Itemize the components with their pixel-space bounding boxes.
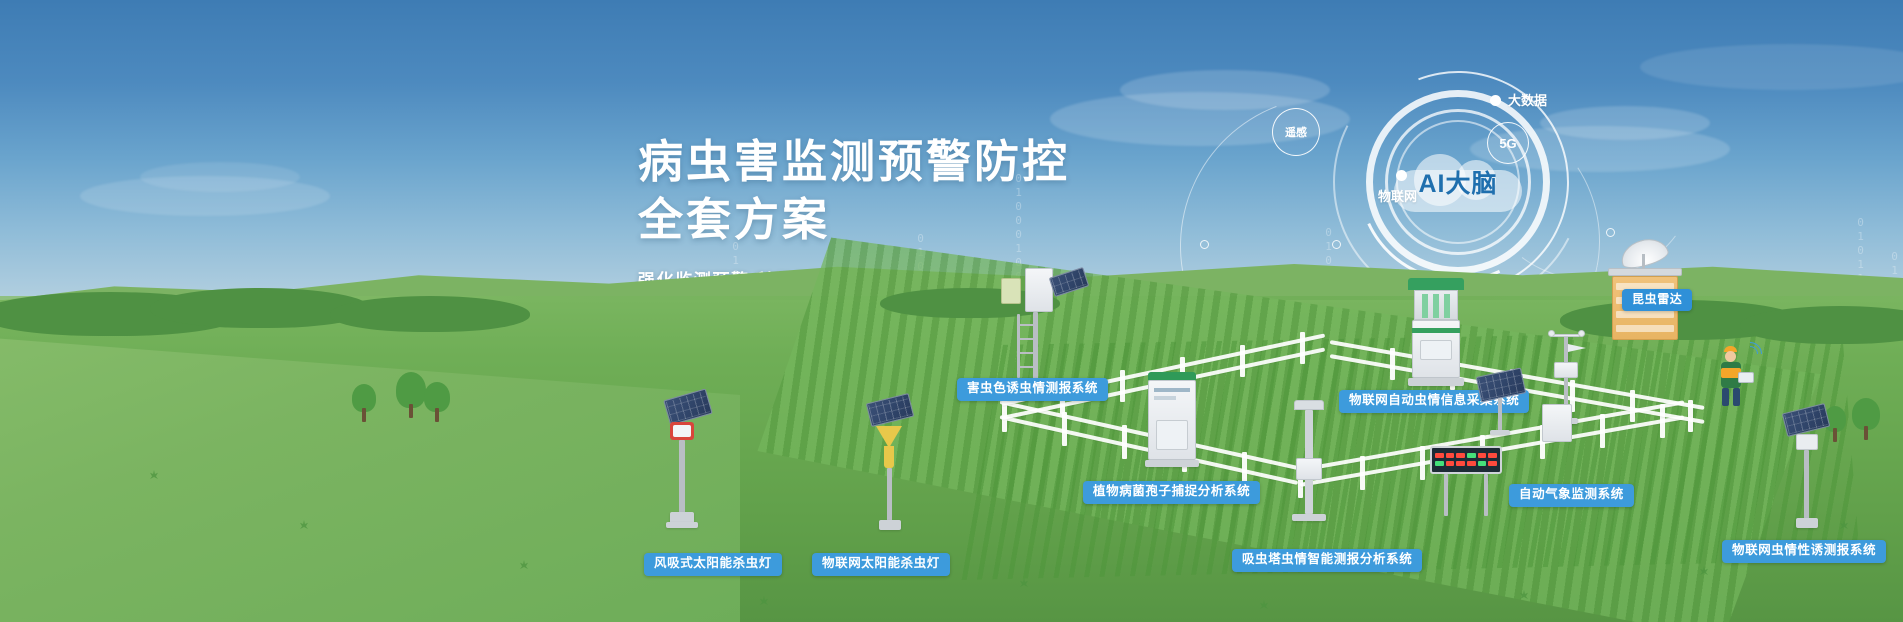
cloud-shape: [140, 162, 300, 192]
label-insect-radar[interactable]: 昆虫雷达: [1622, 289, 1692, 311]
label-suction-tower[interactable]: 吸虫塔虫情智能测报分析系统: [1232, 549, 1422, 572]
arc-endpoint-dot: [1200, 240, 1209, 249]
hub-node-label-iot: 物联网: [1378, 186, 1417, 205]
hill-bush: [1740, 306, 1903, 344]
label-auto-weather-station[interactable]: 自动气象监测系统: [1509, 484, 1634, 507]
device-weather-cabinet[interactable]: [1542, 404, 1572, 442]
arc-endpoint-dot: [1332, 240, 1341, 249]
hub-node-label-big-data: 大数据: [1508, 90, 1547, 109]
pest-monitoring-banner: 0100010011010 01001 0100101101 010110100…: [0, 0, 1903, 622]
tree: [1852, 392, 1880, 440]
hub-node-label: 遥感: [1285, 124, 1307, 140]
tree: [424, 378, 450, 422]
hill-bush: [330, 296, 530, 332]
tree: [396, 368, 426, 418]
label-wind-solar-lamp[interactable]: 风吸式太阳能杀虫灯: [644, 553, 782, 576]
hub-node-label: 5G: [1499, 136, 1516, 151]
hub-node-5g[interactable]: 5G: [1487, 122, 1529, 164]
label-insect-color-trap[interactable]: 害虫色诱虫情测报系统: [957, 378, 1108, 401]
hub-node-remote-sensing[interactable]: 遥感: [1272, 108, 1320, 156]
banner-title-line-2: 全套方案: [638, 191, 1158, 249]
hub-node-dot-big-data[interactable]: [1490, 95, 1501, 106]
label-iot-pheromone-trap[interactable]: 物联网虫情性诱测报系统: [1722, 540, 1886, 563]
arc-endpoint-dot: [1606, 228, 1615, 237]
label-iot-solar-lamp[interactable]: 物联网太阳能杀虫灯: [812, 553, 950, 576]
hub-node-dot-iot[interactable]: [1396, 170, 1407, 181]
label-spore-capture[interactable]: 植物病菌孢子捕捉分析系统: [1083, 481, 1260, 504]
tree: [352, 380, 376, 422]
banner-title-line-1: 病虫害监测预警防控: [638, 133, 1158, 191]
